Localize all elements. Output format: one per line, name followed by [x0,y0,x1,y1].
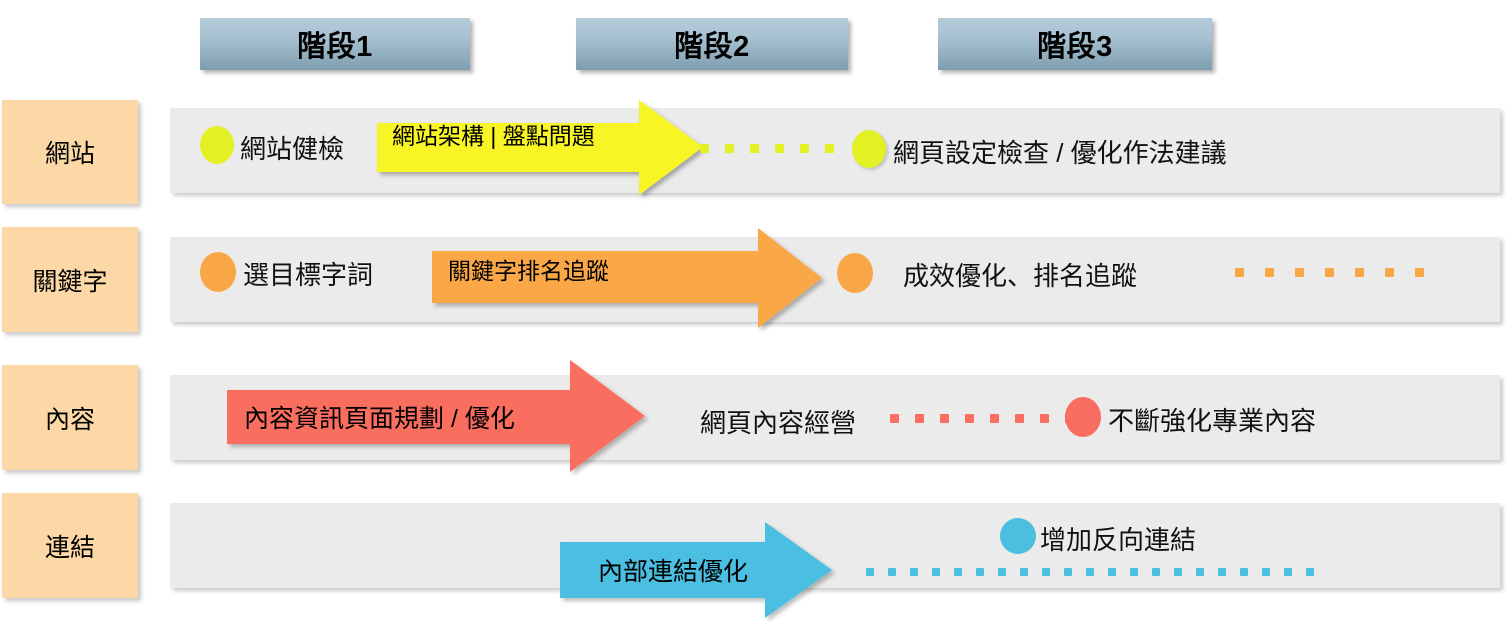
category-label-content: 內容 [2,365,138,470]
keyword-dotted-connector [1235,268,1424,277]
keyword-start-label: 選目標字詞 [243,255,373,292]
website-start-circle-icon [200,126,234,164]
stage-header-1: 階段1 [200,18,470,70]
content-end-label: 不斷強化專業內容 [1108,401,1316,438]
keyword-end-circle-icon [837,253,873,293]
website-start-label: 網站健檢 [240,129,344,166]
category-label-link-text: 連結 [45,528,95,564]
stage-header-2: 階段2 [576,18,848,70]
category-label-keyword-text: 關鍵字 [32,262,107,298]
website-dotted-connector [700,144,834,153]
category-label-website: 網站 [2,100,138,204]
stage-header-3: 階段3 [938,18,1212,70]
keyword-end-label: 成效優化、排名追蹤 [903,256,1137,293]
category-label-keyword: 關鍵字 [2,227,138,332]
content-end-circle-icon [1065,397,1101,437]
content-arrow-shape [227,360,657,472]
keyword-start-circle-icon [200,252,236,292]
category-label-link: 連結 [2,493,138,598]
keyword-arrow-shape [432,228,832,328]
row-bar-website [170,108,1500,193]
link-arrow-shape [560,500,880,620]
diagram-canvas: 階段1 階段2 階段3 網站 關鍵字 內容 連結 網站健檢 網站架構 | 盤點問… [0,0,1511,622]
category-label-website-text: 網站 [45,134,95,170]
link-end-label: 增加反向連結 [1040,520,1196,557]
category-label-content-text: 內容 [45,400,95,436]
website-end-circle-icon [852,130,886,168]
website-arrow-shape [377,100,707,195]
stage-header-3-label: 階段3 [1037,23,1113,65]
link-end-circle-icon [1000,518,1036,554]
content-dotted-connector [890,414,1074,423]
stage-header-1-label: 階段1 [297,23,373,65]
website-end-label: 網頁設定檢查 / 優化作法建議 [893,133,1227,170]
stage-header-2-label: 階段2 [674,23,750,65]
link-dotted-connector [866,568,1314,576]
content-mid-label: 網頁內容經營 [700,403,856,440]
